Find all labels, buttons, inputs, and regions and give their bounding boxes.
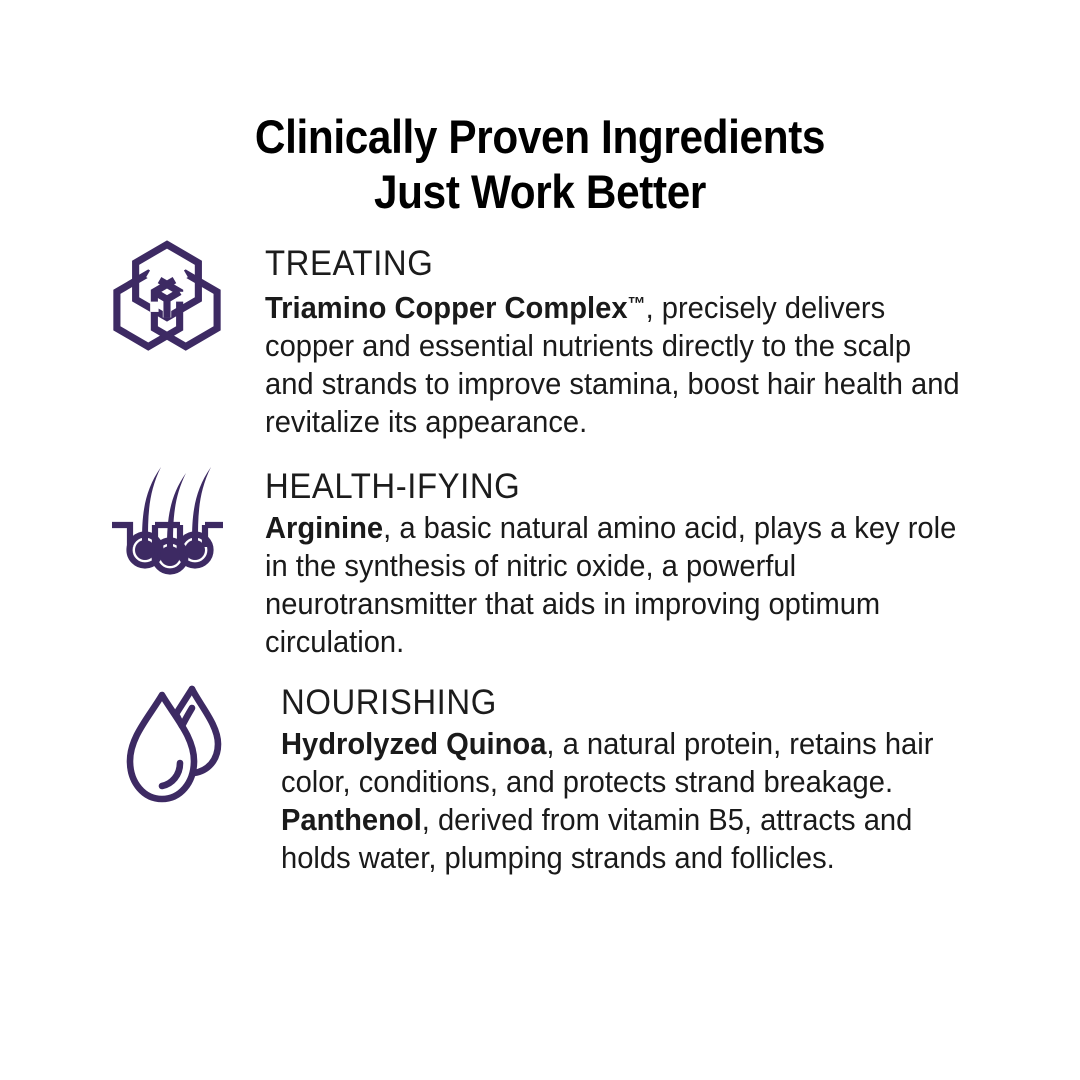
section-health-ifying-body: HEALTH-IFYING Arginine, a basic natural … (265, 457, 962, 661)
section-label: NOURISHING (281, 683, 936, 723)
section-treating-body: TREATING Triamino Copper Complex™, preci… (265, 232, 962, 441)
section-nourishing-body: NOURISHING Hydrolyzed Quinoa, a natural … (281, 675, 978, 877)
water-droplets-icon (108, 675, 242, 821)
section-paragraph: Panthenol, derived from vitamin B5, attr… (281, 801, 978, 877)
section-paragraph: Triamino Copper Complex™, precisely deli… (265, 286, 962, 441)
hair-follicles-icon (108, 457, 226, 575)
interlocking-hexagons-icon (108, 232, 226, 356)
ingredient-name: Arginine (265, 511, 383, 545)
page-title-line-1: Clinically Proven Ingredients (54, 109, 1026, 164)
ingredient-name: Panthenol (281, 803, 422, 837)
ingredient-sections: TREATING Triamino Copper Complex™, preci… (0, 232, 1080, 877)
section-paragraph: Hydrolyzed Quinoa, a natural protein, re… (281, 725, 978, 801)
section-health-ifying: HEALTH-IFYING Arginine, a basic natural … (0, 457, 1080, 661)
page-title-line-2: Just Work Better (54, 164, 1026, 219)
ingredient-name: Triamino Copper Complex (265, 291, 628, 325)
ingredients-infographic: Clinically Proven Ingredients Just Work … (0, 0, 1080, 1080)
section-nourishing: NOURISHING Hydrolyzed Quinoa, a natural … (0, 675, 1080, 877)
section-paragraph: Arginine, a basic natural amino acid, pl… (265, 509, 962, 661)
trademark-symbol: ™ (628, 294, 646, 315)
ingredient-name: Hydrolyzed Quinoa (281, 727, 546, 761)
page-title: Clinically Proven Ingredients Just Work … (54, 109, 1026, 219)
section-treating: TREATING Triamino Copper Complex™, preci… (0, 232, 1080, 441)
section-label: TREATING (265, 244, 920, 284)
section-label: HEALTH-IFYING (265, 467, 920, 507)
